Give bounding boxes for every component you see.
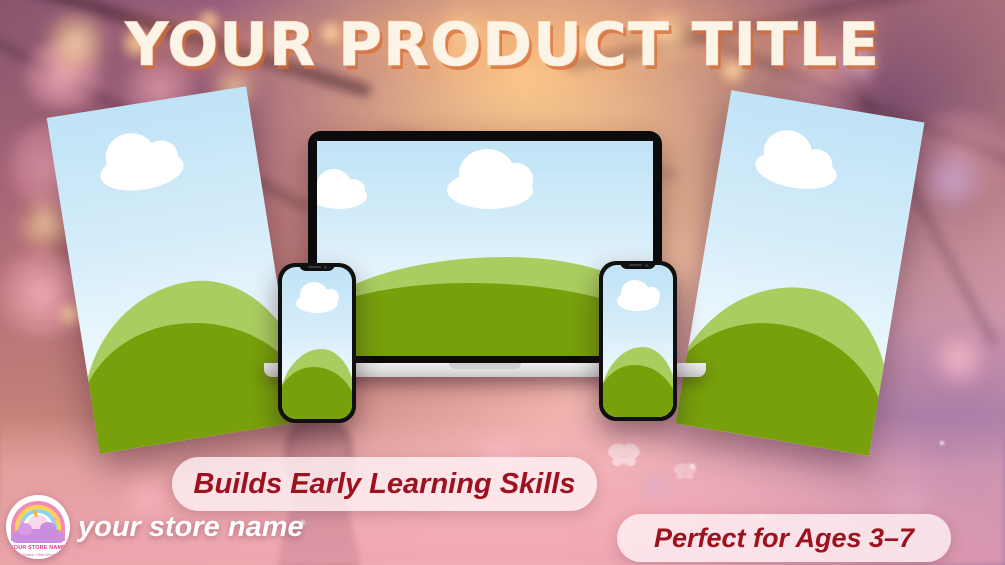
- camera-dot-icon: [645, 264, 648, 267]
- device-mockup-phone-left[interactable]: [278, 263, 356, 423]
- cloud-shape: [317, 183, 367, 209]
- promo-banner: YOUR PRODUCT TITLE Builds Early Learning…: [0, 0, 1005, 565]
- bokeh-dot: [930, 330, 988, 388]
- logo-store-name: YOUR STORE NAME: [6, 545, 70, 551]
- badge-perfect-for-ages: Perfect for Ages 3–7: [617, 514, 951, 562]
- mockup-artwork: [603, 265, 673, 417]
- cloud-shape: [98, 145, 187, 196]
- cloud-shape: [447, 171, 533, 209]
- cloud-base-icon: [12, 529, 64, 543]
- cloud-shape: [617, 291, 659, 311]
- sparkle-icon: [52, 517, 56, 521]
- page-title: YOUR PRODUCT TITLE: [0, 10, 1005, 80]
- phone-screen: [282, 267, 352, 419]
- cloud-shape: [753, 145, 840, 194]
- butterfly-icon: [672, 462, 698, 482]
- device-mockup-phone-right[interactable]: [599, 261, 677, 421]
- store-logo[interactable]: YOUR STORE NAME Big Smiles, Little Wonde…: [6, 495, 70, 559]
- phone-screen: [603, 265, 673, 417]
- store-branding[interactable]: YOUR STORE NAME Big Smiles, Little Wonde…: [6, 495, 304, 559]
- logo-tagline: Big Smiles, Little Wonders: [6, 553, 70, 557]
- sparkle: [940, 441, 944, 445]
- speaker-slit-icon: [308, 266, 321, 268]
- butterfly-icon: [606, 442, 642, 470]
- bokeh-dot: [920, 150, 982, 212]
- speaker-slit-icon: [629, 264, 642, 266]
- store-name-text: your store name: [78, 511, 304, 544]
- mockup-artwork: [282, 267, 352, 419]
- phone-notch: [299, 263, 335, 271]
- laptop-trackpad-notch: [449, 363, 521, 369]
- phone-notch: [620, 261, 656, 269]
- camera-dot-icon: [324, 266, 327, 269]
- cloud-shape: [296, 293, 338, 313]
